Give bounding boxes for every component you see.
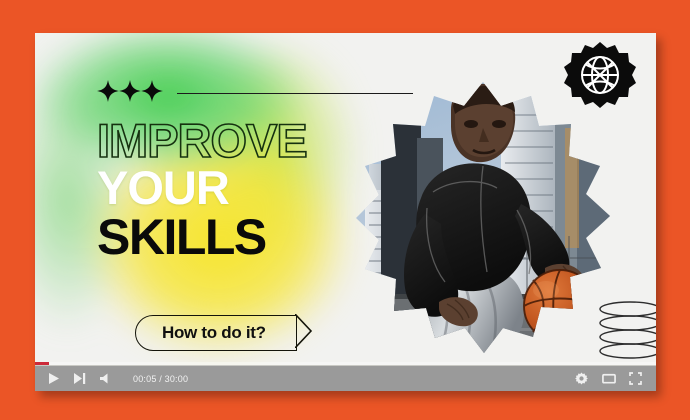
headline-block: IMPROVE YOUR SKILLS [97, 81, 417, 263]
spiral-coil-icon [590, 301, 656, 363]
brand-badge[interactable] [564, 41, 636, 113]
horizontal-rule [177, 93, 413, 94]
headline-line-3: SKILLS [97, 212, 417, 263]
cta-label: How to do it? [162, 323, 266, 343]
gear-icon[interactable] [574, 371, 589, 386]
volume-icon[interactable] [98, 371, 113, 386]
player-left-controls [46, 371, 113, 386]
sparkle-row [97, 81, 417, 105]
play-icon[interactable] [46, 371, 61, 386]
cta-arrow-icon [295, 314, 313, 348]
cta-button[interactable]: How to do it? [135, 316, 297, 350]
video-player-controls: 00:05 / 30:00 [35, 365, 656, 391]
screenshot-root: IMPROVE YOUR SKILLS How to do it? [0, 0, 690, 420]
headline-line-2: YOUR [97, 164, 417, 212]
fullscreen-icon[interactable] [628, 371, 643, 386]
sparkle-filled-icon [97, 80, 119, 107]
cta-shape[interactable]: How to do it? [135, 315, 297, 351]
player-timestamp: 00:05 / 30:00 [133, 374, 188, 384]
next-track-icon[interactable] [72, 371, 87, 386]
player-right-controls [574, 371, 643, 386]
video-card: IMPROVE YOUR SKILLS How to do it? [35, 33, 656, 391]
headline-line-1: IMPROVE [97, 119, 417, 162]
sparkle-filled-icon-3 [141, 80, 163, 107]
miniplayer-icon[interactable] [601, 371, 616, 386]
sparkle-filled-icon-2 [119, 80, 141, 107]
